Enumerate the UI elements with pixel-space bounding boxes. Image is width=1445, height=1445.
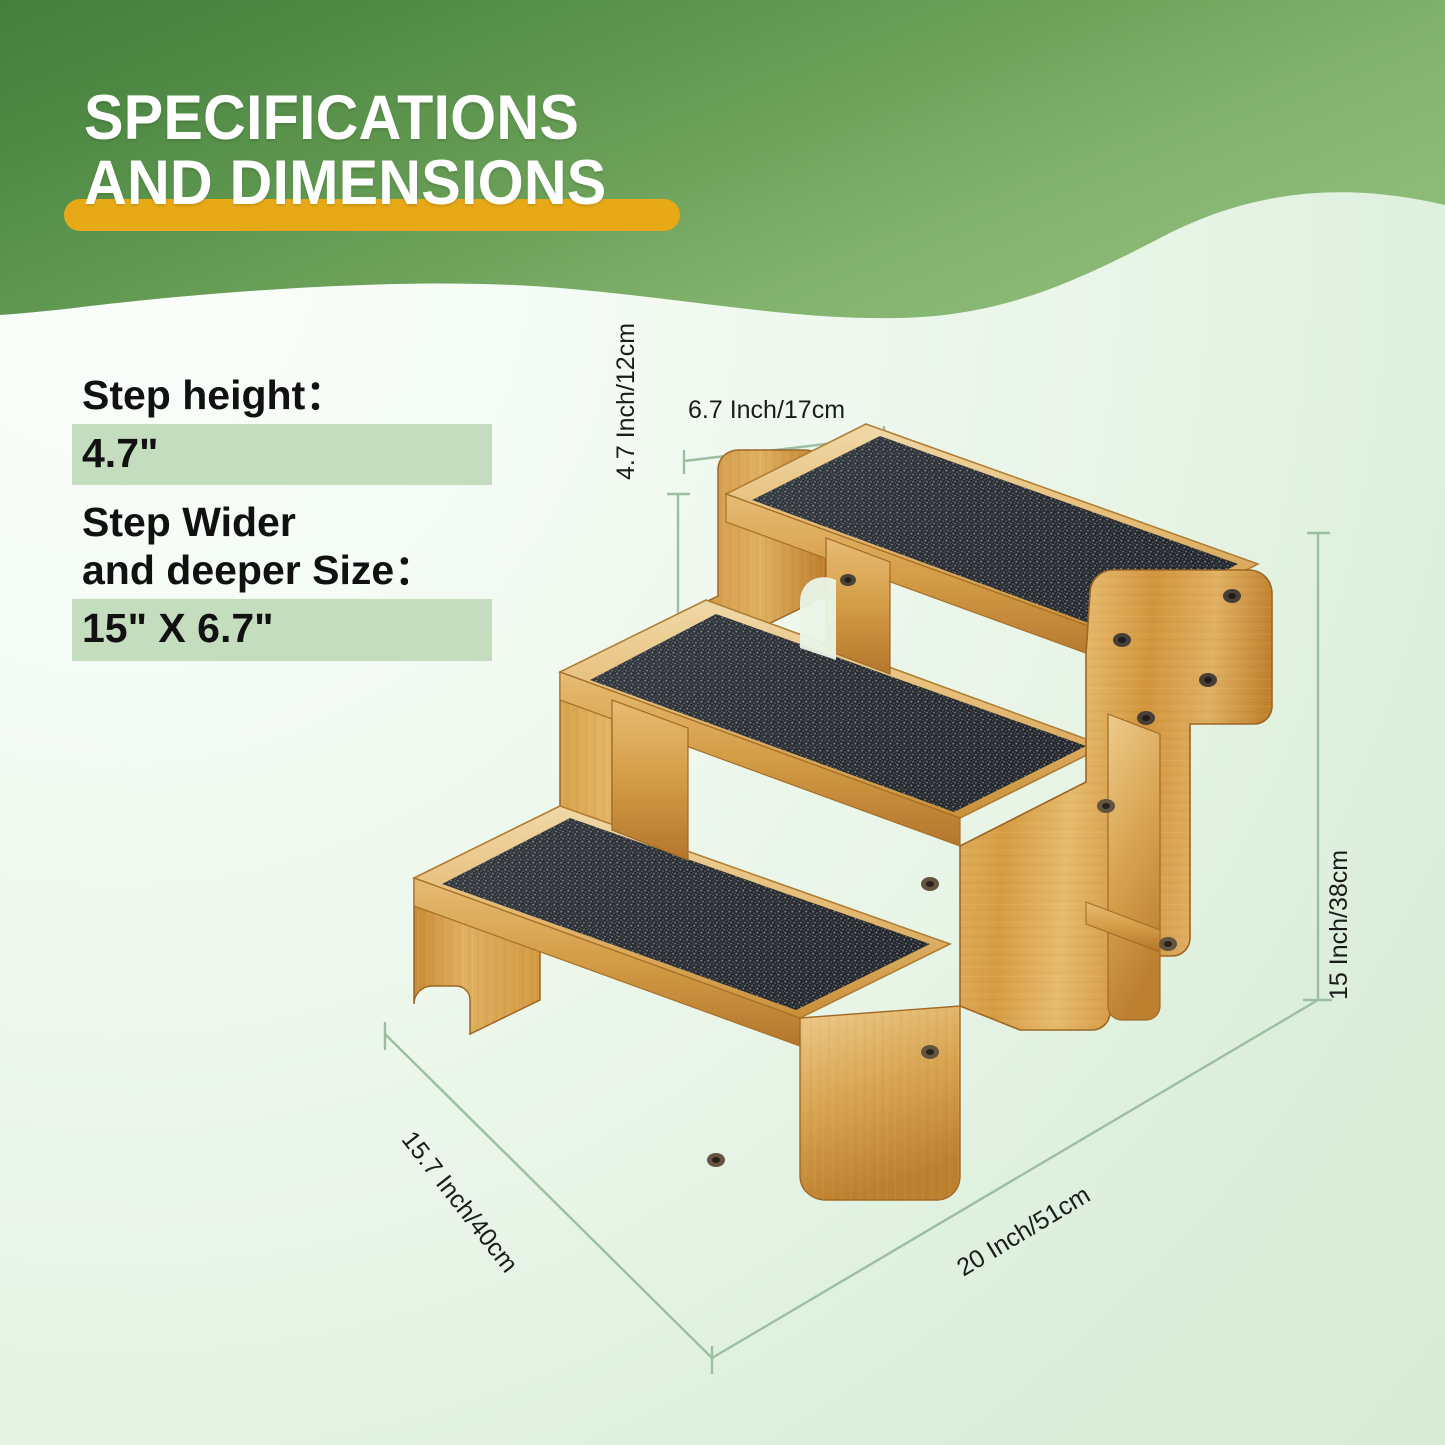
pet-stairs-product: [414, 398, 1272, 1208]
screw: [1113, 633, 1131, 647]
screw: [1137, 711, 1155, 725]
screw: [921, 877, 939, 891]
support-arch-cutout: [800, 577, 836, 660]
specifications-list: Step height： 4.7" Step Wider and deeper …: [82, 372, 512, 669]
rear-leg: [1108, 714, 1160, 1020]
screw: [840, 574, 856, 586]
step-height-label: Step height：: [82, 372, 512, 420]
screw: [707, 1153, 725, 1167]
page-title: SPECIFICATIONS AND DIMENSIONS: [84, 86, 798, 216]
dimension-label-top: 6.7 Inch/17cm: [688, 396, 845, 425]
front-right-panel: [800, 1006, 1020, 1208]
screw: [1199, 673, 1217, 687]
step-size-label: Step Wider and deeper Size：: [82, 499, 512, 595]
step-size-value: 15" X 6.7": [72, 599, 492, 660]
infographic-page: SPECIFICATIONS AND DIMENSIONS Step heigh…: [0, 0, 1445, 1445]
dim-line-bottom-left: [385, 1034, 712, 1358]
dimension-label-left: 4.7 Inch/12cm: [612, 323, 641, 480]
screw: [921, 1045, 939, 1059]
screw: [1223, 589, 1241, 603]
screw: [1159, 937, 1177, 951]
screw: [1097, 799, 1115, 813]
dimension-label-right: 15 Inch/38cm: [1325, 850, 1354, 1000]
step-height-value: 4.7": [72, 424, 492, 485]
